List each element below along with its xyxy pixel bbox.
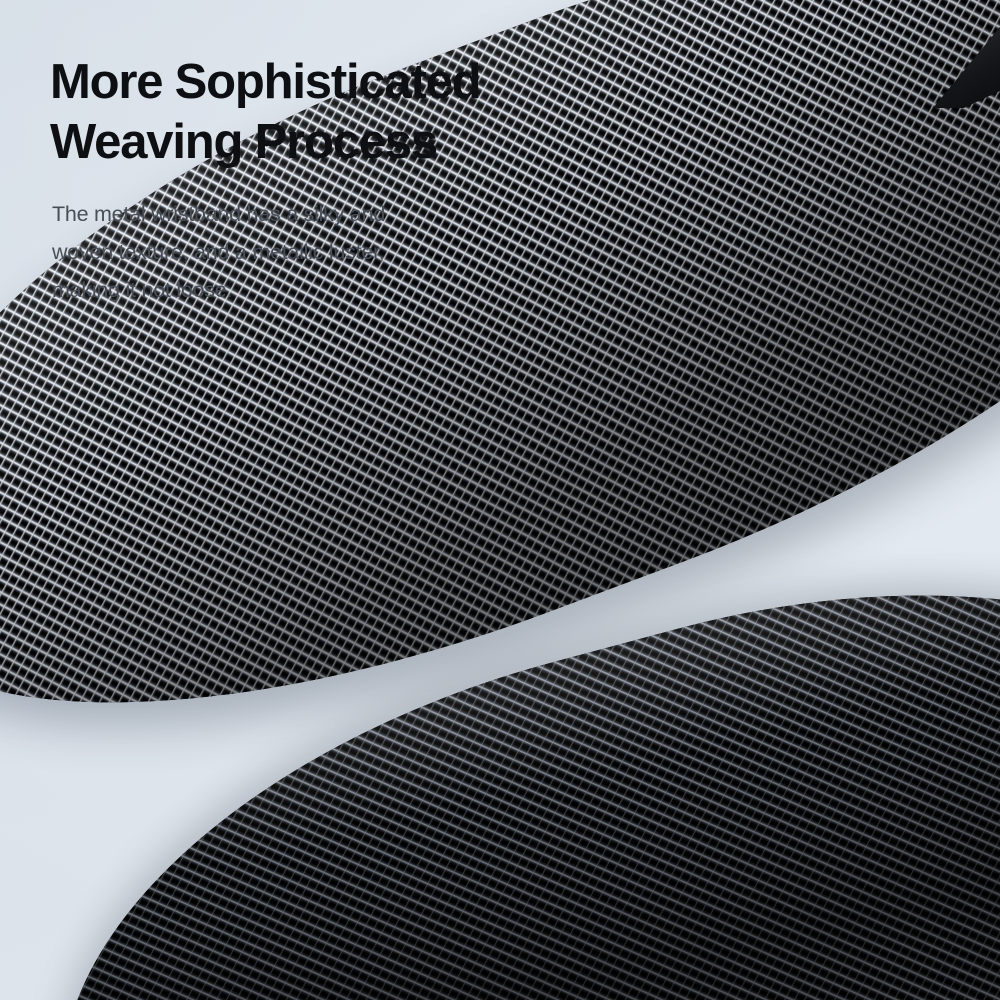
product-feature-banner: More Sophisticated Weaving Process The m… (0, 0, 1000, 1000)
body-copy: The metal wristband has a silky and wove… (52, 195, 570, 309)
headline: More Sophisticated Weaving Process (50, 52, 570, 172)
text-block: More Sophisticated Weaving Process The m… (50, 52, 570, 309)
